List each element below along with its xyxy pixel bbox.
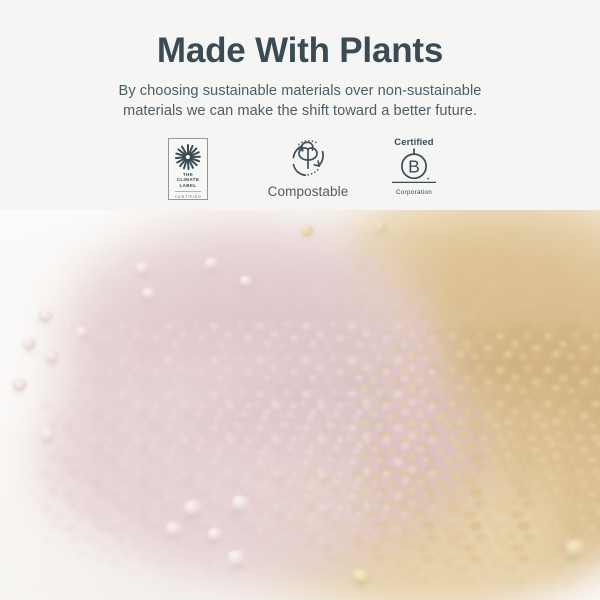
b-corp-corporation-label: Corporation (382, 189, 446, 196)
subtitle-line-2: materials we can make the shift toward a… (65, 101, 535, 121)
badge-b-corp: Certified B Corporation (382, 136, 446, 196)
product-photo (0, 210, 600, 600)
page-title: Made With Plants (0, 0, 600, 68)
climate-label-wordmark: THE CLIMATE LABEL (177, 172, 200, 188)
b-corp-certified-label: Certified (382, 136, 446, 147)
compostable-label: Compostable (262, 184, 354, 199)
svg-text:B: B (408, 157, 420, 177)
certification-badges: THE CLIMATE LABEL CERTIFIED (0, 134, 600, 212)
sunburst-icon (175, 144, 201, 170)
climate-label-line-3: LABEL (177, 183, 200, 188)
marketing-image: Made With Plants By choosing sustainable… (0, 0, 600, 600)
badge-climate-label: THE CLIMATE LABEL CERTIFIED (168, 138, 208, 200)
badge-compostable: Compostable (262, 134, 354, 199)
scattered-pellets (0, 210, 600, 600)
climate-label-certified: CERTIFIED (175, 191, 201, 199)
compostable-clover-icon (282, 134, 334, 182)
page-subtitle: By choosing sustainable materials over n… (65, 68, 535, 121)
b-corp-icon: B (382, 148, 446, 188)
subtitle-line-1: By choosing sustainable materials over n… (65, 81, 535, 101)
header-block: Made With Plants By choosing sustainable… (0, 0, 600, 121)
